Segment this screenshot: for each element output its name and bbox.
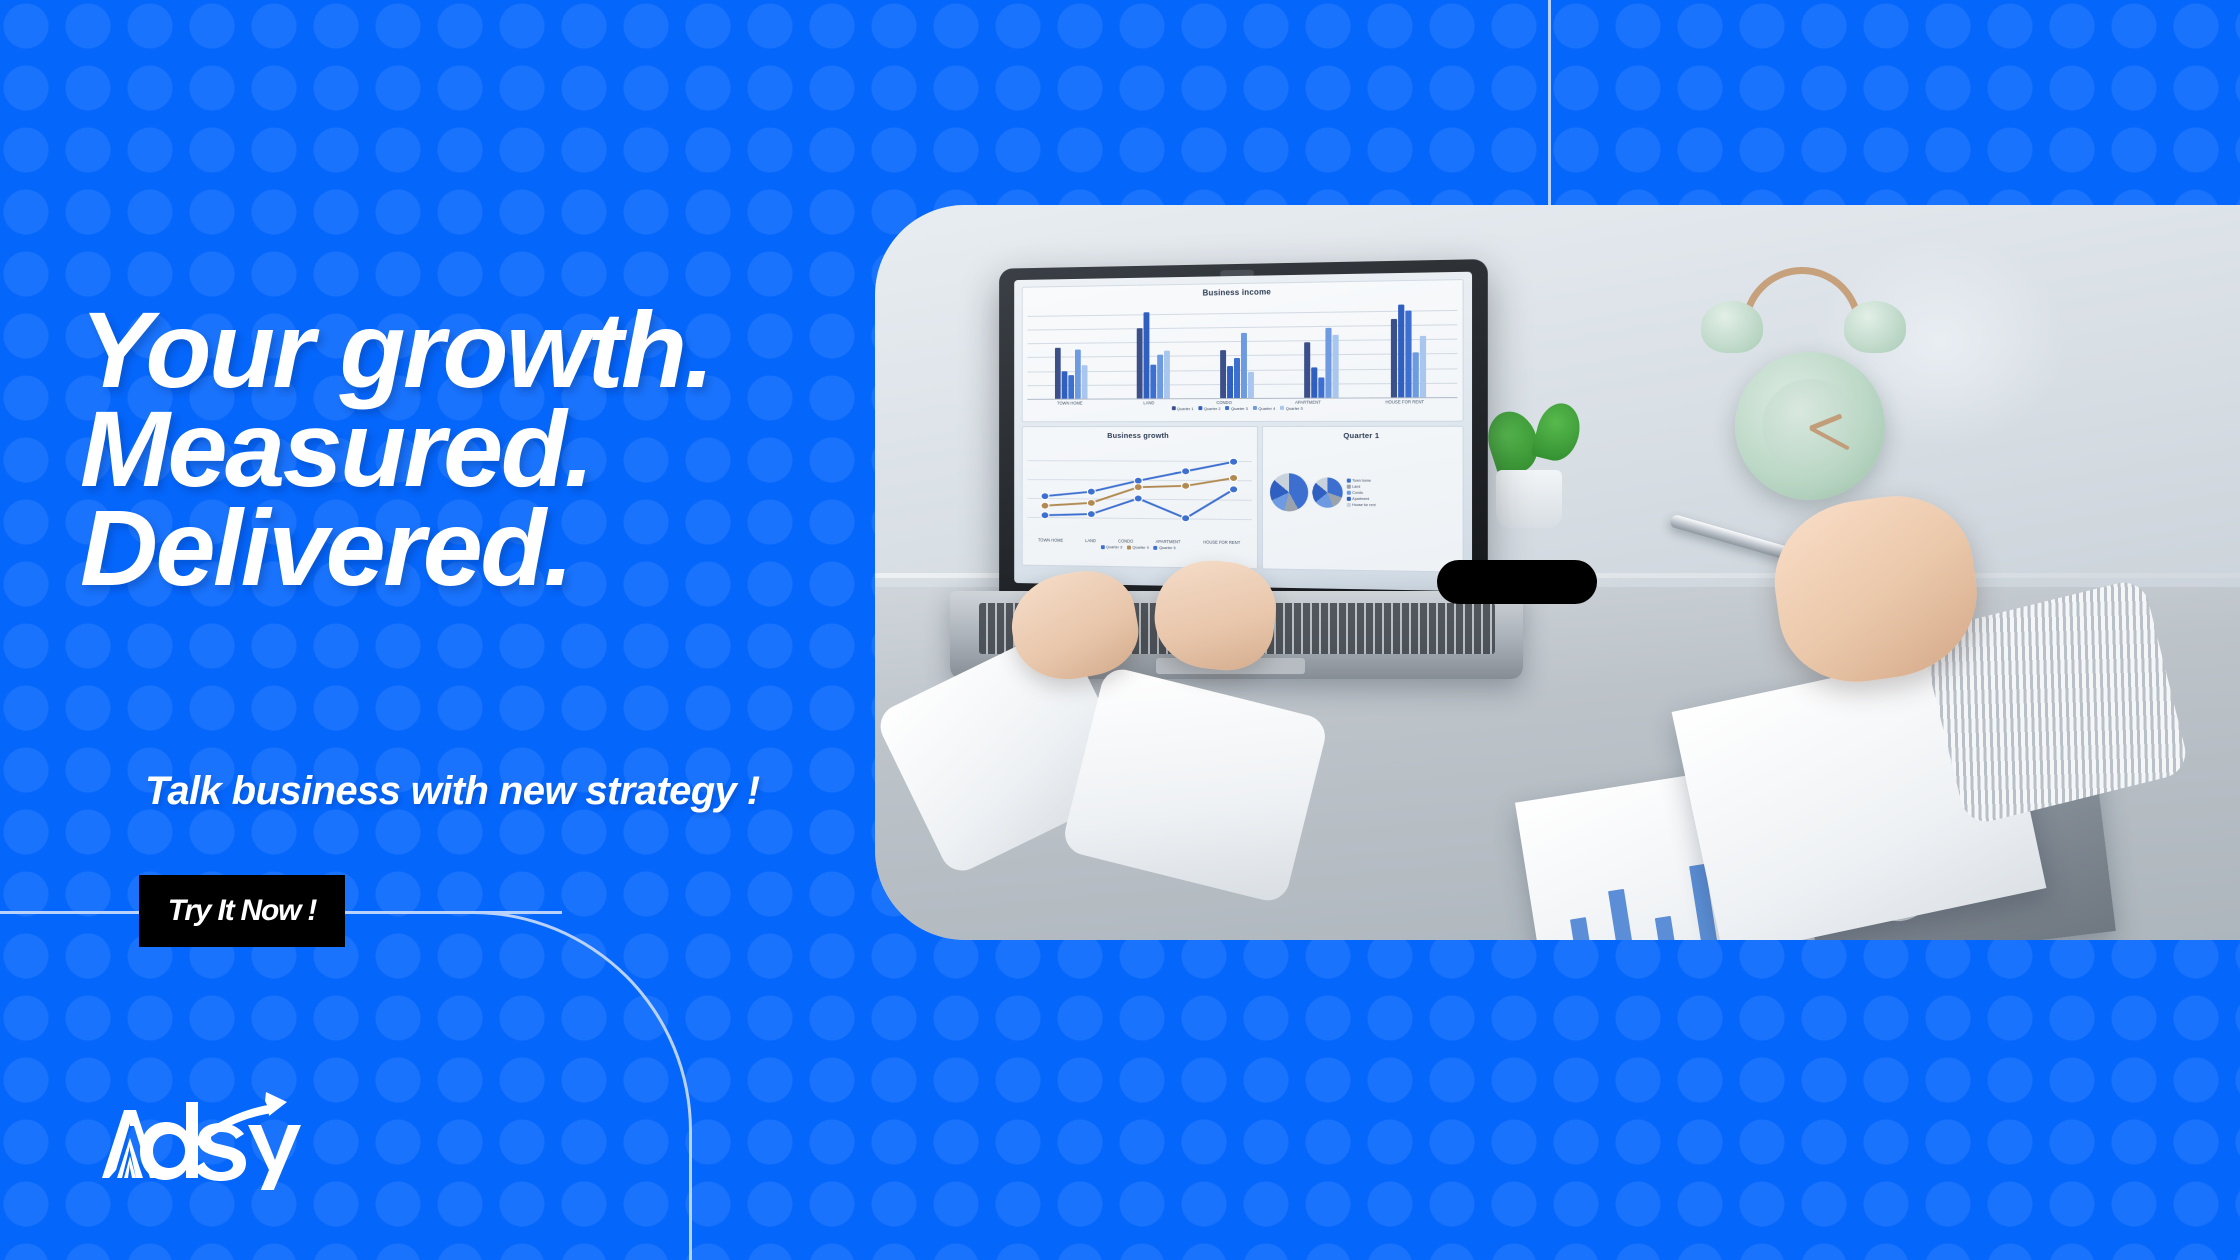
line-chart-svg xyxy=(1027,442,1252,539)
legend-label: Land xyxy=(1352,485,1360,489)
legend-label: Quarter 3 xyxy=(1231,406,1248,411)
legend-item: House for rent xyxy=(1347,503,1376,507)
bar xyxy=(1413,352,1419,396)
data-point-marker xyxy=(1087,511,1095,518)
bar xyxy=(1234,358,1240,398)
bar xyxy=(1164,351,1170,398)
bar xyxy=(1333,335,1339,397)
legend-item: Quarter 2 xyxy=(1198,406,1220,411)
bar-group xyxy=(1055,301,1088,398)
legend-item: Apartment xyxy=(1347,497,1376,501)
legend-label: House for rent xyxy=(1352,503,1375,507)
document-bar xyxy=(1608,889,1635,940)
chart-quarter-pies: Quarter 1 Town homeLandCondoApartmentHou… xyxy=(1262,426,1464,572)
axis-label: TOWN HOME xyxy=(1038,538,1063,543)
bar xyxy=(1062,371,1068,398)
bar xyxy=(1137,328,1143,399)
bar xyxy=(1241,332,1247,397)
bar xyxy=(1150,365,1156,398)
bar xyxy=(1075,350,1081,399)
bar-chart-legend: Quarter 1Quarter 2Quarter 3Quarter 4Quar… xyxy=(1027,404,1457,411)
data-point-marker xyxy=(1134,477,1142,484)
legend-label: Quarter 1 xyxy=(1177,406,1194,411)
legend-item: Quarter 3 xyxy=(1226,406,1248,411)
legend-label: Town home xyxy=(1352,479,1371,483)
axis-label: CONDO xyxy=(1118,539,1133,544)
legend-item: Quarter 4 xyxy=(1127,545,1149,550)
legend-label: Condo xyxy=(1352,491,1363,495)
gridline xyxy=(1027,518,1252,520)
bar-group xyxy=(1391,296,1426,397)
chart-title-quarter: Quarter 1 xyxy=(1268,431,1457,440)
axis-label: APARTMENT xyxy=(1295,399,1321,404)
bar xyxy=(1319,377,1325,397)
data-point-marker xyxy=(1229,475,1237,482)
legend-item: Quarter 3 xyxy=(1101,544,1123,549)
legend-item: Town home xyxy=(1347,479,1376,483)
legend-swatch xyxy=(1198,406,1202,410)
alarm-clock-face xyxy=(1762,379,1858,474)
bar-group xyxy=(1305,297,1339,397)
legend-swatch xyxy=(1347,479,1351,483)
bar-chart-plot-area xyxy=(1027,295,1457,399)
legend-swatch xyxy=(1127,545,1131,549)
legend-swatch xyxy=(1253,406,1257,410)
data-point-marker xyxy=(1087,500,1095,507)
cta-button-label: Try It Now ! xyxy=(168,894,316,928)
gridline xyxy=(1027,461,1252,462)
legend-item: Quarter 1 xyxy=(1172,406,1194,411)
legend-label: Quarter 4 xyxy=(1132,545,1148,550)
headline-line-3: Delivered. xyxy=(80,498,940,597)
axis-label: HOUSE FOR RENT xyxy=(1385,399,1424,404)
legend-label: Apartment xyxy=(1352,497,1369,501)
data-point-marker xyxy=(1134,484,1142,491)
bar xyxy=(1326,327,1332,397)
bar xyxy=(1248,372,1254,398)
chart-business-income: Business income TOWN HOMELANDCONDOAPARTM… xyxy=(1021,279,1463,423)
bar xyxy=(1157,355,1163,398)
bar xyxy=(1227,366,1233,398)
headline-line-2: Measured. xyxy=(80,399,940,498)
axis-label: HOUSE FOR RENT xyxy=(1203,540,1240,545)
document-bar xyxy=(1655,916,1677,940)
page-title: Your growth. Measured. Delivered. xyxy=(80,300,940,597)
legend-label: Quarter 5 xyxy=(1286,405,1303,410)
chart-title-business-growth: Business growth xyxy=(1027,431,1252,440)
bar xyxy=(1082,365,1088,398)
legend-label: Quarter 5 xyxy=(1159,545,1176,550)
axis-label: CONDO xyxy=(1216,400,1231,405)
legend-swatch xyxy=(1347,497,1351,501)
axis-label: LAND xyxy=(1143,400,1154,405)
bar xyxy=(1220,350,1226,397)
black-rounded-overlay xyxy=(1437,560,1597,604)
legend-label: Quarter 2 xyxy=(1204,406,1221,411)
pie-chart-area: Town homeLandCondoApartmentHouse for ren… xyxy=(1268,442,1457,544)
data-point-marker xyxy=(1181,468,1189,475)
legend-label: Quarter 4 xyxy=(1258,406,1275,411)
bar xyxy=(1406,310,1412,397)
chart-business-growth: Business growth TOWN HOMELANDCONDOAPARTM… xyxy=(1021,426,1257,569)
bar xyxy=(1143,312,1149,398)
legend-swatch xyxy=(1172,406,1176,410)
data-point-marker xyxy=(1041,493,1049,500)
clock-minute-hand xyxy=(1809,426,1850,450)
bar xyxy=(1391,318,1397,397)
legend-item: Quarter 5 xyxy=(1280,405,1303,410)
hero-subtitle: Talk business with new strategy ! xyxy=(145,769,759,814)
try-it-now-button[interactable]: Try It Now ! xyxy=(139,875,345,947)
bar xyxy=(1068,375,1074,398)
legend-swatch xyxy=(1101,545,1105,549)
data-point-marker xyxy=(1229,458,1237,465)
legend-item: Quarter 4 xyxy=(1253,406,1275,411)
promo-banner: Business income TOWN HOMELANDCONDOAPARTM… xyxy=(0,0,2240,1260)
document-bar xyxy=(1570,918,1594,940)
hero-copy: Your growth. Measured. Delivered. Talk b… xyxy=(0,0,960,1260)
data-point-marker xyxy=(1181,483,1189,490)
data-point-marker xyxy=(1087,488,1095,495)
data-point-marker xyxy=(1041,512,1049,519)
legend-swatch xyxy=(1280,406,1284,410)
bar xyxy=(1420,336,1426,397)
legend-swatch xyxy=(1347,485,1351,489)
legend-swatch xyxy=(1154,545,1158,549)
data-point-marker xyxy=(1134,495,1142,502)
pie-chart-primary xyxy=(1270,473,1308,511)
bar xyxy=(1312,367,1318,397)
legend-swatch xyxy=(1347,491,1351,495)
adsy-growth-arrow-logo xyxy=(68,1082,308,1190)
bar xyxy=(1398,304,1404,397)
alarm-clock-bell-right xyxy=(1844,301,1906,353)
legend-swatch xyxy=(1347,503,1351,507)
legend-item: Quarter 5 xyxy=(1154,545,1176,550)
plant-pot xyxy=(1496,470,1562,528)
laptop-lid: Business income TOWN HOMELANDCONDOAPARTM… xyxy=(999,259,1488,607)
legend-label: Quarter 3 xyxy=(1106,544,1122,549)
bar xyxy=(1305,342,1311,397)
axis-label: TOWN HOME xyxy=(1057,400,1082,405)
legend-swatch xyxy=(1226,406,1230,410)
alarm-clock xyxy=(1735,352,1885,500)
data-point-marker xyxy=(1041,502,1049,509)
adsy-logo[interactable] xyxy=(68,1082,308,1190)
axis-label: LAND xyxy=(1085,538,1096,543)
data-point-marker xyxy=(1181,515,1189,522)
legend-item: Land xyxy=(1347,485,1376,489)
line-chart-plot-area xyxy=(1027,442,1252,539)
alarm-clock-bell-left xyxy=(1701,301,1763,353)
data-point-marker xyxy=(1229,486,1237,493)
bar-group xyxy=(1137,300,1170,398)
headline-line-1: Your growth. xyxy=(80,300,940,399)
bar xyxy=(1055,348,1061,398)
bar-group xyxy=(1220,298,1254,397)
axis-label: APARTMENT xyxy=(1156,539,1181,544)
laptop-screen: Business income TOWN HOMELANDCONDOAPARTM… xyxy=(1014,271,1472,591)
legend-item: Condo xyxy=(1347,491,1376,495)
screen-bottom-row: Business growth TOWN HOMELANDCONDOAPARTM… xyxy=(1021,426,1463,572)
pie-chart-legend: Town homeLandCondoApartmentHouse for ren… xyxy=(1347,479,1376,508)
pie-chart-secondary xyxy=(1312,477,1342,508)
